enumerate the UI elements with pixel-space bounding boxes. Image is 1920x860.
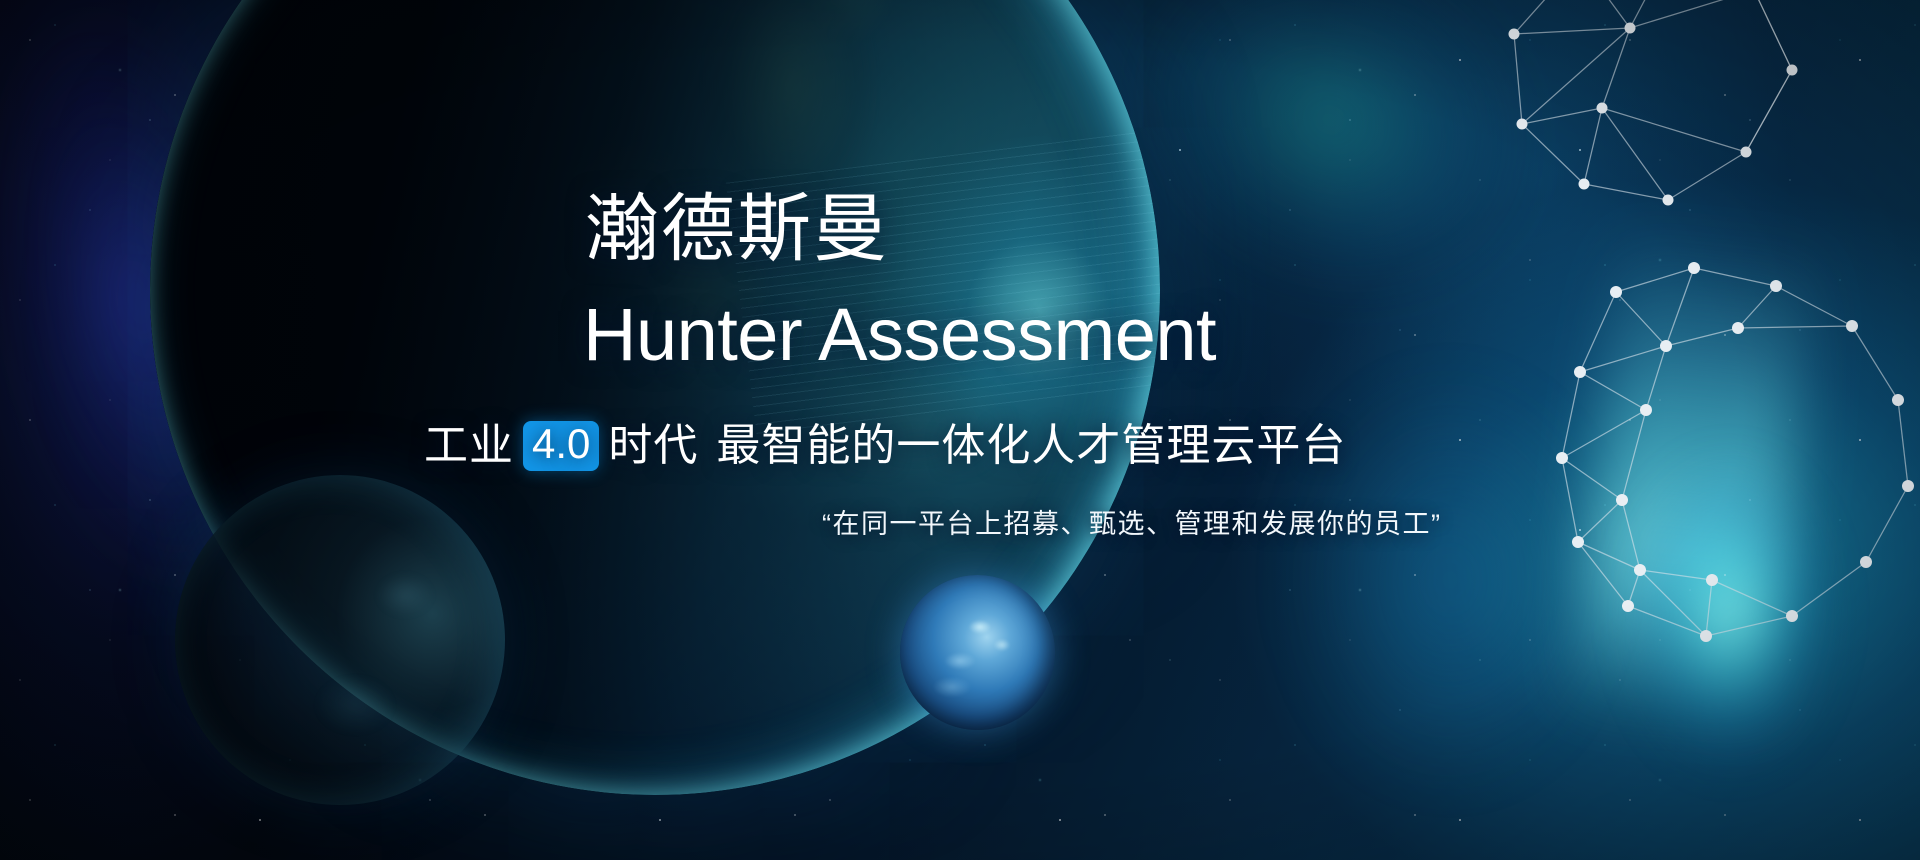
hero-subtitle-quote: “在同一平台上招募、甄选、管理和发展你的员工” <box>822 507 1441 542</box>
tagline-after-badge: 时代 <box>608 420 698 472</box>
brand-name-chinese: 瀚德斯曼 <box>585 192 889 266</box>
tagline-before-badge: 工业 <box>424 420 514 472</box>
hero-copy-block: 瀚德斯曼 Hunter Assessment 工业 4.0 时代 最智能的一体化… <box>0 0 1920 860</box>
brand-name-english: Hunter Assessment <box>583 298 1216 372</box>
tagline-rest: 最智能的一体化人才管理云平台 <box>716 420 1346 472</box>
industry-version-badge: 4.0 <box>523 421 599 470</box>
tagline: 工业 4.0 时代 最智能的一体化人才管理云平台 <box>424 420 1346 472</box>
hero-banner: 瀚德斯曼 Hunter Assessment 工业 4.0 时代 最智能的一体化… <box>0 0 1920 860</box>
